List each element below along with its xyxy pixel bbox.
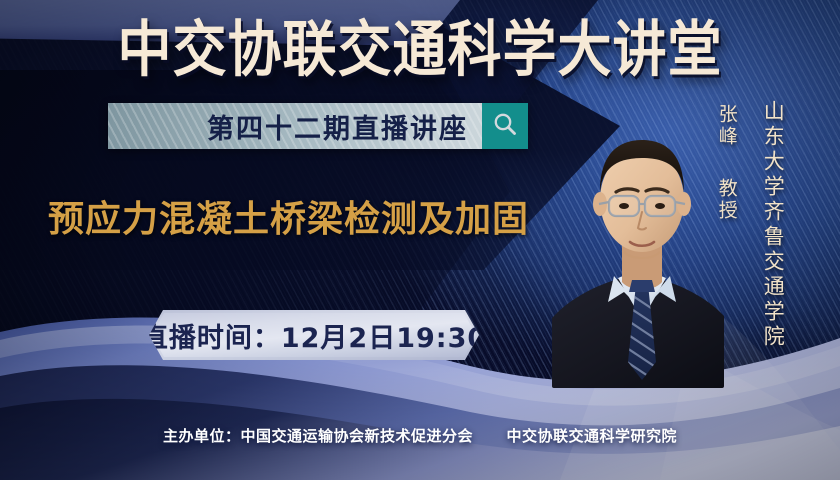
schedule-badge: 直播时间：12月2日19:30 [149,310,479,360]
episode-banner-body: 第四十二期直播讲座 [108,103,482,149]
organizer-primary: 主办单位：中国交通运输协会新技术促进分会 [163,427,473,445]
organizer-secondary: 中交协联交通科学研究院 [506,427,677,445]
speaker-role: 教授 [714,178,738,222]
search-icon [492,111,518,142]
speaker-name: 张峰 [714,104,738,148]
footer-organizers: 主办单位：中国交通运输协会新技术促进分会 中交协联交通科学研究院 [0,425,840,446]
schedule-label: 直播时间：12月2日19:30 [141,316,487,355]
speaker-portrait [552,96,724,388]
search-button[interactable] [482,103,528,149]
episode-label: 第四十二期直播讲座 [207,107,468,146]
page-title: 中交协联交通科学大讲堂 [0,16,840,83]
episode-banner: 第四十二期直播讲座 [108,103,528,149]
lecture-title: 预应力混凝土桥梁检测及加固 [48,190,529,242]
livestream-poster: 中交协联交通科学大讲堂 第四十二期直播讲座 预应力混凝土桥梁检测及加固 直播时间… [0,0,840,480]
speaker-organization: 山东大学齐鲁交通学院 [760,100,786,350]
